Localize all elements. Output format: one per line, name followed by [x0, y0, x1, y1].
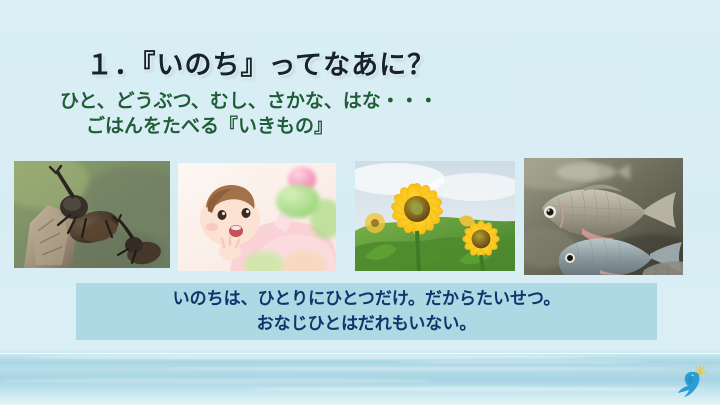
sunflower-photo — [355, 161, 515, 271]
water-streak — [29, 355, 591, 359]
water-top-line — [0, 353, 720, 354]
subtitle-line-2: ごはんをたべる『いきもの』 — [60, 114, 438, 139]
subtitle-block: ひと、どうぶつ、むし、さかな、はな・・・ ごはんをたべる『いきもの』 — [60, 89, 438, 139]
water-streak — [0, 378, 432, 383]
message-line-1: いのちは、ひとりにひとつだけ。だからたいせつ。 — [173, 287, 561, 312]
water-streak — [396, 361, 648, 363]
fish-photo — [524, 158, 683, 275]
slide-canvas: １．『いのち』ってなあに？ ひと、どうぶつ、むし、さかな、はな・・・ ごはんをた… — [0, 0, 720, 405]
water-band — [0, 347, 720, 405]
page-title: １．『いのち』ってなあに？ — [86, 43, 435, 82]
message-line-2: おなじひとはだれもいない。 — [257, 312, 477, 337]
message-box: いのちは、ひとりにひとつだけ。だからたいせつ。 おなじひとはだれもいない。 — [76, 283, 657, 340]
beetle-photo — [14, 161, 170, 268]
subtitle-line-1: ひと、どうぶつ、むし、さかな、はな・・・ — [60, 91, 438, 112]
water-streak — [158, 367, 676, 370]
baby-photo — [178, 163, 336, 271]
dove-icon — [670, 359, 710, 399]
water-streak — [252, 387, 706, 391]
